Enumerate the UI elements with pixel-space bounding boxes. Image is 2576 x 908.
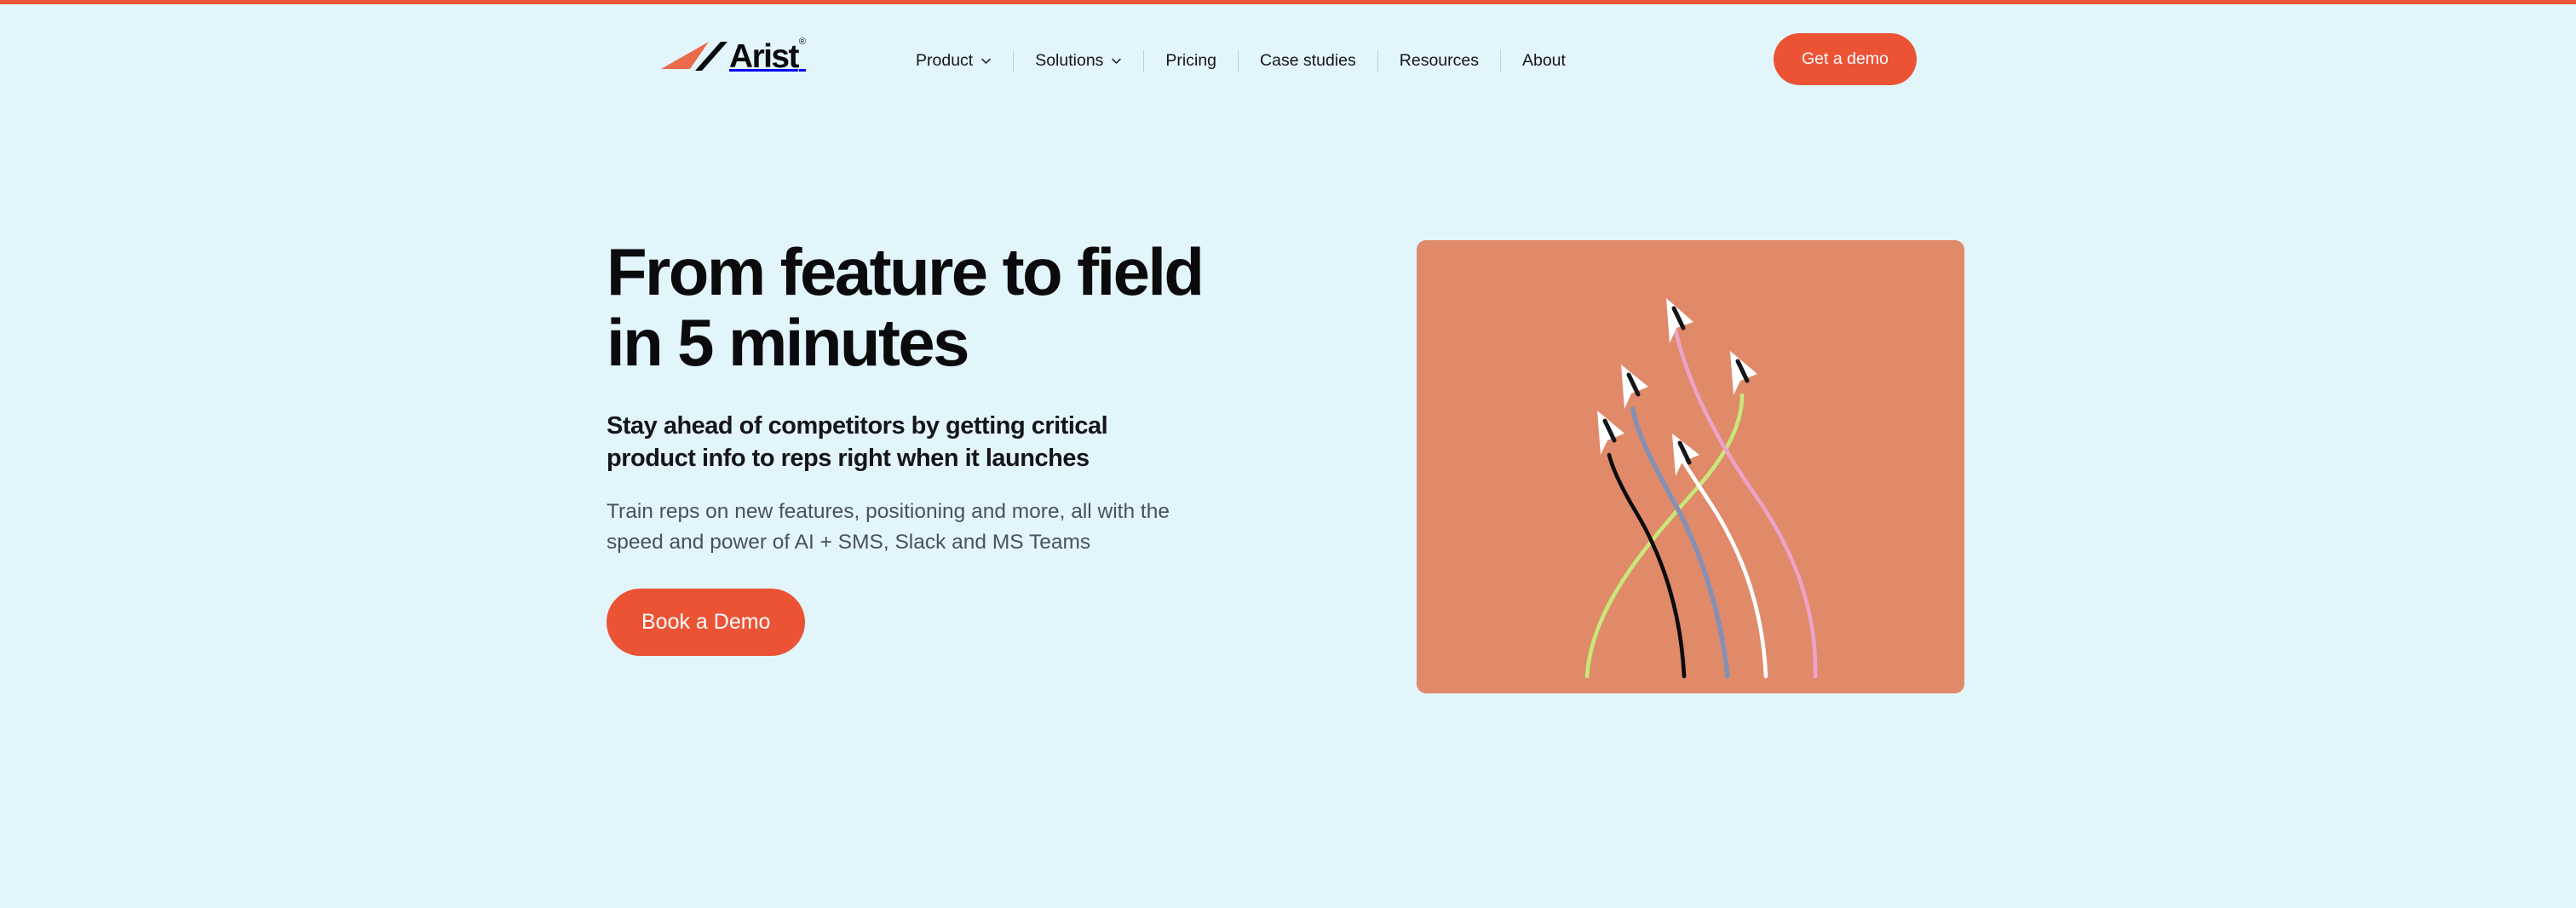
nav-item-pricing[interactable]: Pricing: [1165, 53, 1216, 70]
nav-item-resources[interactable]: Resources: [1400, 53, 1479, 70]
site-header: Arist® Product Solutions Pricing Case st…: [0, 4, 2576, 109]
nav-item-product-label: Product: [916, 53, 973, 70]
nav-divider: [1377, 50, 1378, 72]
hero-illustration-card: [1417, 240, 1964, 693]
nav-divider: [1500, 50, 1501, 72]
arist-logo-mark-icon: [661, 42, 731, 71]
paper-plane-white: [1672, 434, 1699, 476]
arist-logo-wordmark: Arist®: [729, 42, 805, 72]
book-a-demo-button[interactable]: Book a Demo: [607, 589, 805, 656]
black-trail: [1609, 455, 1684, 676]
nav-item-solutions-label: Solutions: [1035, 53, 1103, 70]
paper-plane-pink: [1666, 298, 1693, 343]
registered-mark-icon: ®: [799, 37, 806, 47]
hero-body-text: Train reps on new features, positioning …: [607, 497, 1179, 557]
nav-divider: [1143, 50, 1144, 72]
nav-item-product[interactable]: Product: [916, 53, 992, 70]
top-accent-strip: [0, 0, 2576, 4]
nav-divider: [1238, 50, 1239, 72]
paper-plane-slate: [1621, 365, 1648, 409]
paper-plane-black: [1597, 411, 1624, 455]
nav-item-about[interactable]: About: [1522, 53, 1566, 70]
get-a-demo-button[interactable]: Get a demo: [1774, 33, 1917, 85]
hero-subheadline: Stay ahead of competitors by getting cri…: [607, 410, 1169, 475]
paper-plane-lime: [1730, 351, 1757, 395]
arist-logo[interactable]: Arist®: [661, 37, 805, 71]
nav-divider: [1013, 50, 1014, 72]
paper-planes-illustration: [1417, 240, 1964, 693]
chevron-down-icon: [1111, 55, 1122, 66]
hero-section: From feature to field in 5 minutes Stay …: [0, 109, 2576, 908]
primary-navigation: Product Solutions Pricing Case studies R…: [916, 49, 1566, 74]
chevron-down-icon: [980, 55, 992, 66]
nav-item-case-studies[interactable]: Case studies: [1260, 53, 1356, 70]
hero-copy: From feature to field in 5 minutes Stay …: [607, 237, 1288, 656]
nav-item-solutions[interactable]: Solutions: [1035, 53, 1122, 70]
hero-headline: From feature to field in 5 minutes: [607, 237, 1288, 379]
